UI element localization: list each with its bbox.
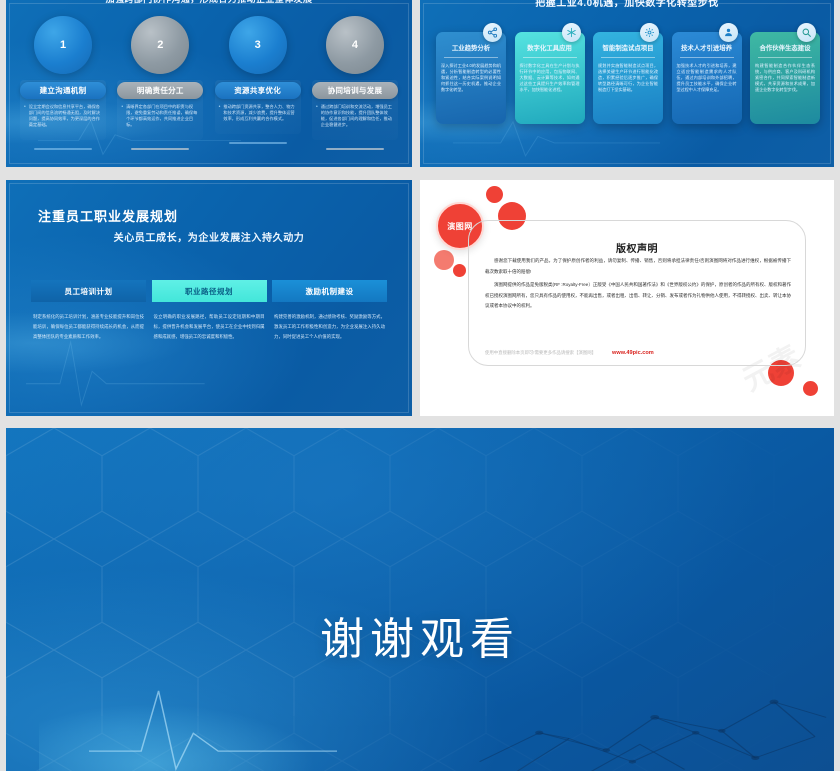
step-number-circle: 1 xyxy=(34,16,92,74)
slide-3-subheading: 关心员工成长，为企业发展注入持久动力 xyxy=(6,229,412,244)
step-body-text: 清晰界定各部门在项目中的职责与权限，避免重复劳动和责任推诿，确保每个环节都高效运… xyxy=(126,104,199,128)
red-circle-decoration xyxy=(486,186,503,203)
slide-2-card-5[interactable]: 合作伙伴生态建设 构建智能制造合作伙伴生态系统，与供应商、客户及科研机构紧密合作… xyxy=(750,32,820,124)
column-header: 职业路径规划 xyxy=(152,280,267,302)
step-label: 明确责任分工 xyxy=(117,82,203,99)
red-circle-decoration xyxy=(453,264,466,277)
step-number: 1 xyxy=(60,39,66,51)
step-body-text: 设立定期会议和信息共享平台，确保各部门间的信息流转畅通无阻，及时解决问题，提高协… xyxy=(29,104,102,128)
card-title: 数字化工具应用 xyxy=(523,45,577,58)
step-number: 3 xyxy=(255,39,261,51)
slide-3-column-1[interactable]: 员工培训计划 制定系统化的员工培训计划，涵盖专业技能提升和岗位技能培训，确保每位… xyxy=(31,280,146,342)
slide-1-columns: 1 建立沟通机制 • 设立定期会议和信息共享平台，确保各部门间的信息流转畅通无阻… xyxy=(20,16,398,149)
thank-you-text: 谢谢观看 xyxy=(6,603,834,667)
logo-text: 演图网 xyxy=(447,221,473,232)
step-base-bar xyxy=(34,148,92,150)
step-card: 资源共享优化 • 推动跨部门资源共享，整合人力、物力和技术资源，减少浪费，提升整… xyxy=(215,80,301,134)
card-title: 智能制造试点项目 xyxy=(601,45,655,58)
step-number-circle: 4 xyxy=(326,16,384,74)
card-body: 深入探讨工业4.0的发展趋势和机遇，分析智能制造转型的必要性和紧迫性，结合实际案… xyxy=(441,63,501,94)
red-circle-decoration xyxy=(803,381,818,396)
slide-thumbnail-board: 加强跨部门协作沟通，形成合力推动企业整体发展 1 建立沟通机制 • 设立定期会议… xyxy=(0,0,840,771)
slide-1-column-3[interactable]: 3 资源共享优化 • 推动跨部门资源共享，整合人力、物力和技术资源，减少浪费，提… xyxy=(215,16,301,149)
step-label: 协同培训与发展 xyxy=(312,82,398,99)
user-icon xyxy=(719,23,738,42)
step-number: 2 xyxy=(157,39,163,51)
column-header: 员工培训计划 xyxy=(31,280,146,302)
slide-1-column-1[interactable]: 1 建立沟通机制 • 设立定期会议和信息共享平台，确保各部门间的信息流转畅通无阻… xyxy=(20,16,106,149)
gear-icon xyxy=(640,23,659,42)
slide-3-columns: 员工培训计划 制定系统化的员工培训计划，涵盖专业技能提升和岗位技能培训，确保每位… xyxy=(31,280,387,342)
step-body-text: 通过跨部门培训和交流活动，增强员工的协作意识和技能，提升团队整体效能，促进各部门… xyxy=(321,104,394,128)
slide-2-card-2[interactable]: 数字化工具应用 探讨数字化工具在生产计划与执行环节中的应用，包括物联网、大数据、… xyxy=(515,32,585,124)
slide-1-column-2[interactable]: 2 明确责任分工 • 清晰界定各部门在项目中的职责与权限，避免重复劳动和责任推诿… xyxy=(117,16,203,149)
copyright-paragraph-1: 感谢您下载使用我们的产品，为了保护原创作者的利益，请勿复制、传播、销售，否则将承… xyxy=(485,256,791,277)
slide-5-thank-you[interactable]: 谢谢观看 xyxy=(6,428,834,771)
card-body: 探讨数字化工具在生产计划与执行环节中的应用，包括物联网、大数据、云计算等技术，如… xyxy=(520,63,580,94)
copyright-note: 使用中直接删除本页即可!需要更多作品请搜索【演图网】 xyxy=(485,350,596,356)
step-label: 资源共享优化 xyxy=(215,82,301,99)
slide-1-column-4[interactable]: 4 协同培训与发展 • 通过跨部门培训和交流活动，增强员工的协作意识和技能，提升… xyxy=(312,16,398,149)
step-body-row: • 设立定期会议和信息共享平台，确保各部门间的信息流转畅通无阻，及时解决问题，提… xyxy=(20,104,106,128)
bullet-dot-icon: • xyxy=(24,104,26,128)
copyright-title: 版权声明 xyxy=(469,240,805,255)
slide-2-card-1[interactable]: 工业趋势分析 深入探讨工业4.0的发展趋势和机遇，分析智能制造转型的必要性和紧迫… xyxy=(436,32,506,124)
share-icon xyxy=(483,23,502,42)
slide-2-title: 把握工业4.0机遇，加快数字化转型步伐 xyxy=(420,0,834,9)
website-url[interactable]: www.49pic.com xyxy=(612,350,654,356)
column-body: 设立明确的职业发展路径，帮助员工设定短期和中期目标，提供晋升机会和发展平台，使员… xyxy=(152,312,267,342)
copyright-box: 版权声明 感谢您下载使用我们的产品，为了保护原创作者的利益，请勿复制、传播、销售… xyxy=(468,220,806,366)
slide-1-cross-department-collaboration[interactable]: 加强跨部门协作沟通，形成合力推动企业整体发展 1 建立沟通机制 • 设立定期会议… xyxy=(6,0,412,167)
card-title: 合作伙伴生态建设 xyxy=(758,45,812,58)
column-header: 激励机制建设 xyxy=(272,280,387,302)
step-number-circle: 2 xyxy=(131,16,189,74)
card-title: 工业趋势分析 xyxy=(444,45,498,58)
step-body-row: • 清晰界定各部门在项目中的职责与权限，避免重复劳动和责任推诿，确保每个环节都高… xyxy=(117,104,203,128)
slide-3-column-2[interactable]: 职业路径规划 设立明确的职业发展路径，帮助员工设定短期和中期目标，提供晋升机会和… xyxy=(152,280,267,342)
slide-3-column-3[interactable]: 激励机制建设 构建完善的激励机制，通过绩效考核、奖励激励等方式，激发员工的工作积… xyxy=(272,280,387,342)
snowflake-icon xyxy=(562,23,581,42)
step-body-row: • 通过跨部门培训和交流活动，增强员工的协作意识和技能，提升团队整体效能，促进各… xyxy=(312,104,398,128)
step-card: 明确责任分工 • 清晰界定各部门在项目中的职责与权限，避免重复劳动和责任推诿，确… xyxy=(117,80,203,140)
slide-1-title: 加强跨部门协作沟通，形成合力推动企业整体发展 xyxy=(6,0,412,5)
step-number-circle: 3 xyxy=(229,16,287,74)
bullet-dot-icon: • xyxy=(219,104,221,122)
step-card: 协同培训与发展 • 通过跨部门培训和交流活动，增强员工的协作意识和技能，提升团队… xyxy=(312,80,398,140)
card-title: 技术人才引进培养 xyxy=(680,45,734,58)
card-body: 构建智能制造合作伙伴生态系统，与供应商、客户及科研机构紧密合作，共同探索智能制造… xyxy=(755,63,815,94)
bullet-dot-icon: • xyxy=(316,104,318,128)
slide-2-industry-4-0-opportunity[interactable]: 把握工业4.0机遇，加快数字化转型步伐 工业趋势分析 深入探讨工业4.0的发展趋… xyxy=(420,0,834,167)
copyright-body: 感谢您下载使用我们的产品，为了保护原创作者的利益，请勿复制、传播、销售，否则将承… xyxy=(485,256,791,312)
ekg-line-decoration xyxy=(89,682,337,771)
slide-2-card-row: 工业趋势分析 深入探讨工业4.0的发展趋势和机遇，分析智能制造转型的必要性和紧迫… xyxy=(436,32,820,124)
card-body: 规划并实施智能制造试点项目，选择关键生产环节进行智能化改造，积累经验后逐步推广，… xyxy=(598,63,658,94)
slide-2-card-4[interactable]: 技术人才引进培养 加强技术人才的引进和培养，建立适应智能制造需求的人才队伍，通过… xyxy=(672,32,742,124)
bullet-dot-icon: • xyxy=(121,104,123,128)
step-base-bar xyxy=(326,148,384,150)
step-card: 建立沟通机制 • 设立定期会议和信息共享平台，确保各部门间的信息流转畅通无阻，及… xyxy=(20,80,106,140)
step-base-bar xyxy=(229,142,287,144)
copyright-footer: 使用中直接删除本页即可!需要更多作品请搜索【演图网】 www.49pic.com xyxy=(485,350,791,356)
step-label: 建立沟通机制 xyxy=(20,82,106,99)
search-icon xyxy=(797,23,816,42)
slide-3-heading: 注重员工职业发展规划 xyxy=(38,206,178,225)
column-body: 构建完善的激励机制，通过绩效考核、奖励激励等方式，激发员工的工作积极性和创造力，… xyxy=(272,312,387,342)
red-circle-decoration xyxy=(434,250,454,270)
slide-2-card-3[interactable]: 智能制造试点项目 规划并实施智能制造试点项目，选择关键生产环节进行智能化改造，积… xyxy=(593,32,663,124)
slide-4-copyright-notice[interactable]: 演图网 元素 版权声明 感谢您下载使用我们的产品，为了保护原创作者的利益，请勿复… xyxy=(420,180,834,416)
step-body-text: 推动跨部门资源共享，整合人力、物力和技术资源，减少浪费，提升整体运营效率，形成互… xyxy=(223,104,296,122)
step-number: 4 xyxy=(352,39,358,51)
slide-3-employee-career-development[interactable]: 注重员工职业发展规划 关心员工成长，为企业发展注入持久动力 员工培训计划 制定系… xyxy=(6,180,412,416)
copyright-paragraph-2: 演图网提供的作品是免版税类(RF :Royalty-Free）正版受《中国人民共… xyxy=(485,280,791,312)
column-body: 制定系统化的员工培训计划，涵盖专业技能提升和岗位技能培训，确保每位员工都能获得持… xyxy=(31,312,146,342)
card-body: 加强技术人才的引进和培养，建立适应智能制造需求的人才队伍，通过内部培训和外部招聘… xyxy=(677,63,737,94)
step-base-bar xyxy=(131,148,189,150)
step-body-row: • 推动跨部门资源共享，整合人力、物力和技术资源，减少浪费，提升整体运营效率，形… xyxy=(215,104,301,122)
